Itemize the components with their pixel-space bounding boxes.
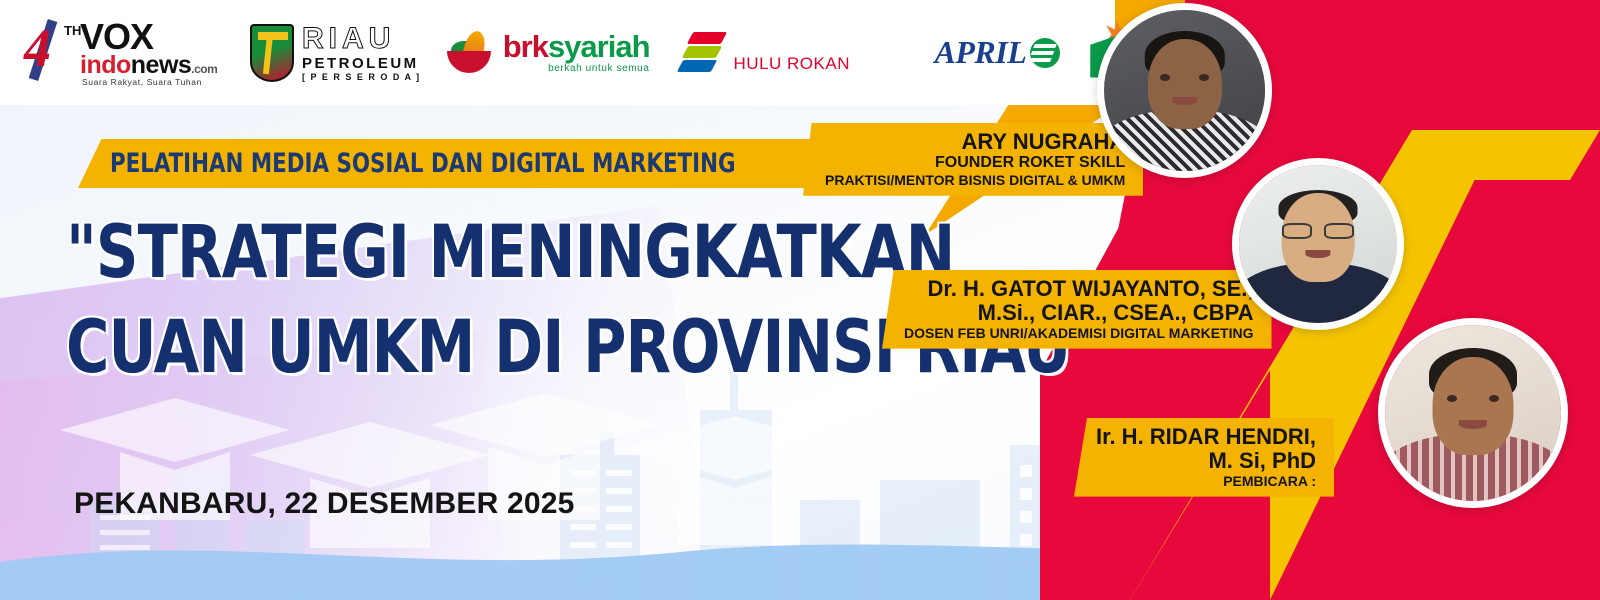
avatar [1239,165,1397,323]
riau-crest-icon [250,24,294,82]
brk-text: brk [503,29,548,64]
domain-text: .com [191,62,217,76]
avatar [1385,325,1561,501]
news-text: news [131,51,192,79]
speaker-name-line-1: Dr. H. GATOT WIJAYANTO, SE., [904,277,1254,301]
syariah-text: syariah [548,29,650,64]
speaker-portrait-gatot-wijayanto [1232,158,1404,330]
petroleum-wordmark: PETROLEUM [302,56,421,71]
pertamina-arrow-icon [676,30,726,76]
event-banner: 4 TH VOX indonews.com Suara Rakyat, Suar… [0,0,1600,600]
speaker-portrait-ary-nugraha [1097,3,1272,178]
pertamina-wordmark: PERTAMINA [734,0,909,53]
speaker-plate-ary-nugraha: ARY NUGRAHA FOUNDER ROKET SKILL PRAKTISI… [803,123,1143,196]
speaker-name-line-2: M. Si, PhD [1096,449,1316,473]
anniversary-number: 4 [20,21,55,75]
vox-indonews-logo: 4 TH VOX indonews.com Suara Rakyat, Suar… [24,17,224,89]
speaker-subtitle: DOSEN FEB UNRI/AKADEMISI DIGITAL MARKETI… [904,325,1254,341]
sponsor-logo-bar: 4 TH VOX indonews.com Suara Rakyat, Suar… [0,0,1115,105]
indo-text: indo [80,51,131,79]
speaker-portrait-ridar-hendri [1378,318,1568,508]
anniversary-suffix: TH [64,23,81,38]
speaker-role: FOUNDER ROKET SKILL [825,154,1125,172]
vox-tagline: Suara Rakyat, Suara Tuhan [82,77,202,87]
speaker-plate-ridar-hendri: Ir. H. RIDAR HENDRI, M. Si, PhD PEMBICAR… [1074,418,1334,497]
vox-wordmark: VOX [80,19,153,55]
april-globe-icon [1030,38,1060,68]
speaker-subtitle: PEMBICARA : [1096,473,1316,489]
speaker-name-line-1: Ir. H. RIDAR HENDRI, [1096,425,1316,449]
ribbon-label: PELATIHAN MEDIA SOSIAL DAN DIGITAL MARKE… [110,150,736,177]
brk-tagline: berkah untuk semua [503,64,650,74]
brk-wordmark: brksyariah [503,31,650,62]
speaker-name: ARY NUGRAHA [825,130,1125,154]
brk-syariah-text: brksyariah berkah untuk semua [503,31,650,74]
april-wordmark: APRIL [935,34,1027,71]
riau-petroleum-text: RIAU PETROLEUM [ P E R S E R O D A ] [302,24,421,82]
speaker-name-line-2: M.Si., CIAR., CSEA., CBPA [904,301,1254,325]
speaker-plate-gatot-wijayanto: Dr. H. GATOT WIJAYANTO, SE., M.Si., CIAR… [882,270,1272,349]
event-location-date: PEKANBARU, 22 DESEMBER 2025 [74,487,575,521]
brk-flame-icon [447,31,495,75]
brk-syariah-logo: brksyariah berkah untuk semua [447,31,650,75]
glasses-icon [1282,223,1355,239]
speaker-subtitle: PRAKTISI/MENTOR BISNIS DIGITAL & UMKM [825,172,1125,188]
riau-petroleum-logo: RIAU PETROLEUM [ P E R S E R O D A ] [250,24,421,82]
april-logo: APRIL [935,34,1061,71]
avatar [1104,10,1265,171]
perseroda-label: [ P E R S E R O D A ] [302,73,421,82]
indonews-wordmark: indonews.com [80,53,217,78]
riau-wordmark: RIAU [302,24,421,54]
